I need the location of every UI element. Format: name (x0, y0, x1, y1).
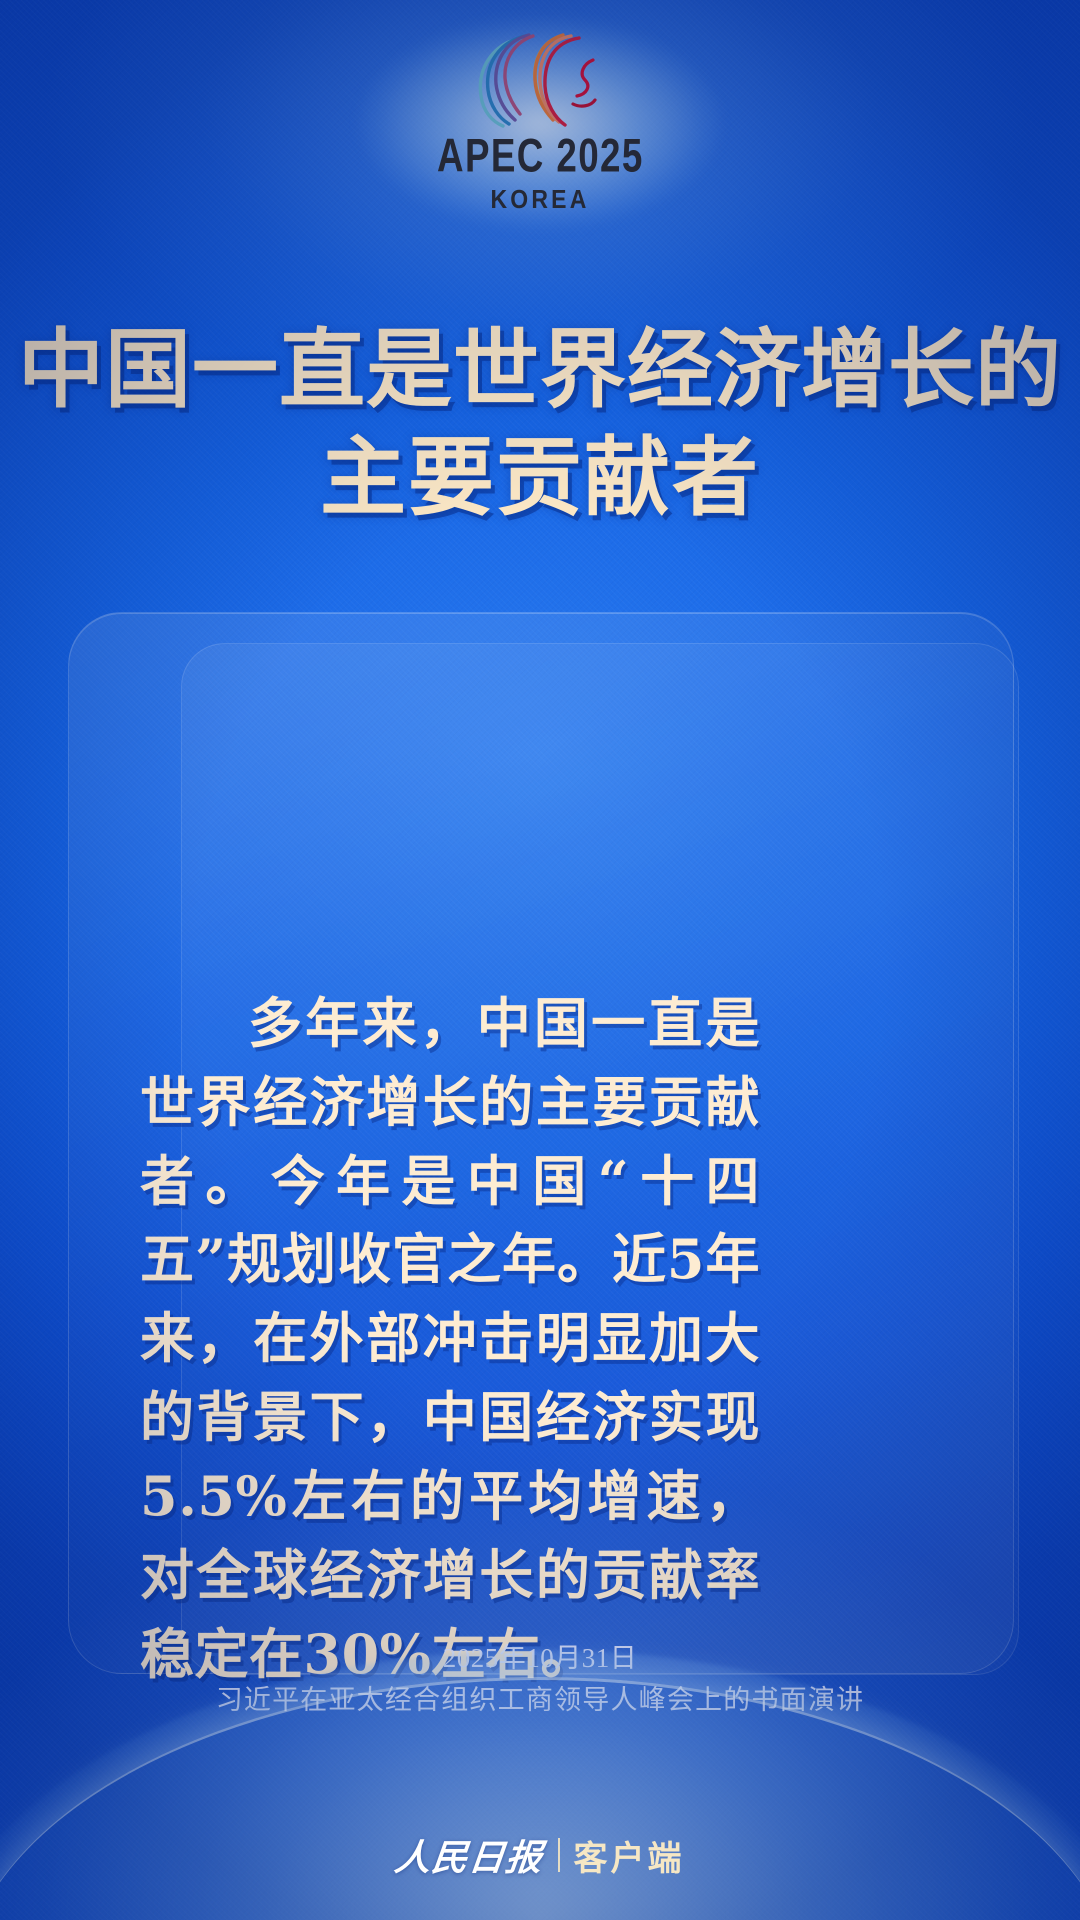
poster-root: APEC 2025 KOREA 中国一直是世界经济增长的 主要贡献者 多年来，中… (0, 0, 1080, 1920)
apec-logo-wordmark: APEC 2025 KOREA (428, 136, 653, 211)
brand-peoples-daily: 人民日报 (393, 1829, 546, 1881)
brand-client-app: 客户端 (574, 1831, 685, 1880)
footer-brand: 人民日报 客户端 (0, 1826, 1080, 1884)
title-line-1: 中国一直是世界经济增长的 (0, 316, 1080, 424)
logo-korea-text: KOREA (428, 187, 653, 213)
page-title: 中国一直是世界经济增长的 主要贡献者 (0, 316, 1080, 533)
title-line-2: 主要贡献者 (0, 424, 1080, 532)
quote-text: 多年来，中国一直是世界经济增长的主要贡献者。今年是中国“十四五”规划收官之年。近… (140, 984, 760, 1693)
apec-logo-block: APEC 2025 KOREA (0, 28, 1080, 208)
logo-apec-text: APEC 2025 (437, 132, 644, 179)
brand-divider (558, 1838, 560, 1872)
apec-emblem-icon (455, 30, 625, 132)
